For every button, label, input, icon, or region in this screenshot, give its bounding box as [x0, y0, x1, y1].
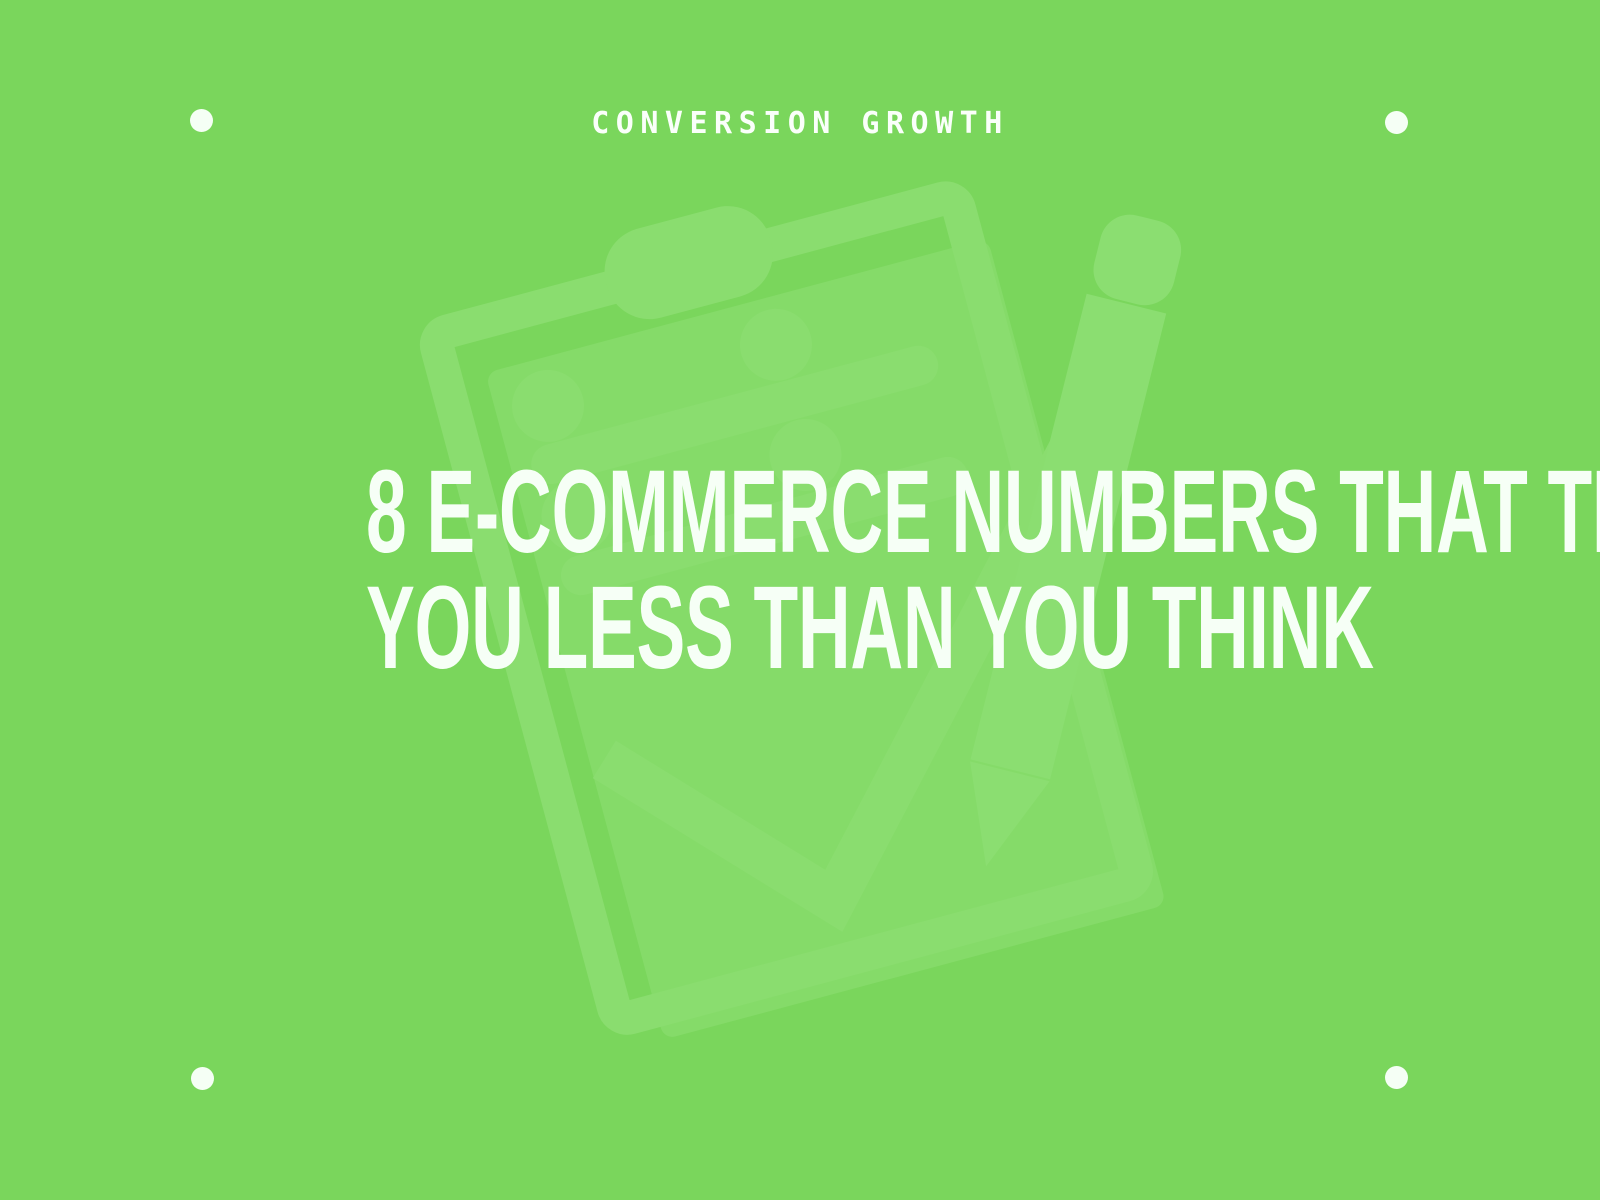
watermark-clipboard-clip [595, 196, 783, 329]
eyebrow-label: CONVERSION GROWTH [0, 106, 1600, 141]
slide-canvas: CONVERSION GROWTH 8 E-COMMERCE NUMBERS T… [0, 0, 1600, 1200]
headline-line-1: 8 E-COMMERCE NUMBERS THAT TELL [366, 455, 1234, 571]
corner-dot-bottom-left [191, 1067, 214, 1090]
watermark-pencil-eraser [1087, 208, 1187, 311]
corner-dot-bottom-right [1385, 1066, 1408, 1089]
headline-line-2: YOU LESS THAN YOU THINK [366, 571, 1234, 687]
headline: 8 E-COMMERCE NUMBERS THAT TELL YOU LESS … [366, 455, 1234, 686]
watermark-pencil-tip [946, 761, 1049, 876]
